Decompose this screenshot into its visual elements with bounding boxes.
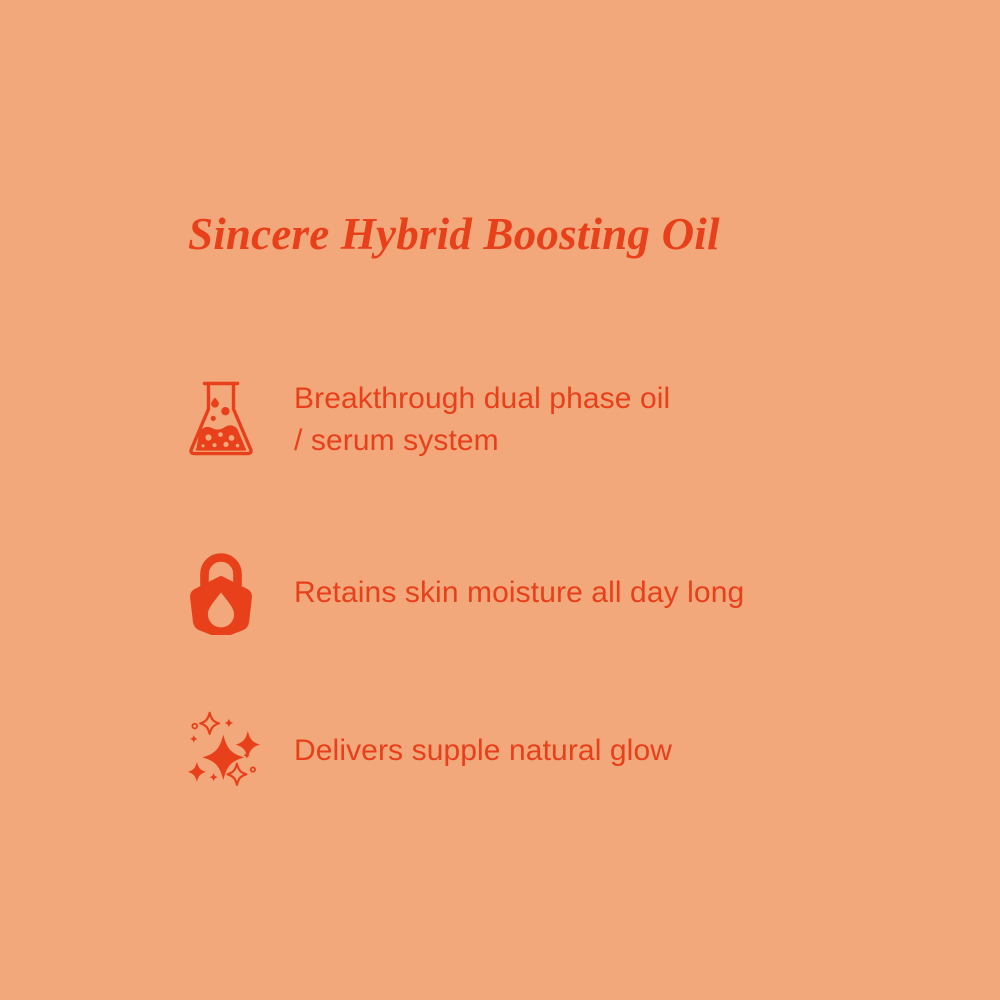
feature-item-moisture: Retains skin moisture all day long [186, 545, 906, 641]
sparkles-icon [186, 708, 266, 794]
feature-item-glow: Delivers supple natural glow [186, 703, 906, 799]
feature-text: Retains skin moisture all day long [266, 572, 906, 614]
feature-list: Breakthrough dual phase oil / serum syst… [0, 0, 1000, 1000]
feature-text: Delivers supple natural glow [266, 730, 906, 772]
flask-icon [186, 377, 266, 463]
lock-droplet-icon [186, 550, 266, 636]
product-feature-card: Sincere Hybrid Boosting Oil [0, 0, 1000, 1000]
feature-text: Breakthrough dual phase oil / serum syst… [266, 378, 906, 462]
feature-item-dual-phase: Breakthrough dual phase oil / serum syst… [186, 372, 906, 468]
